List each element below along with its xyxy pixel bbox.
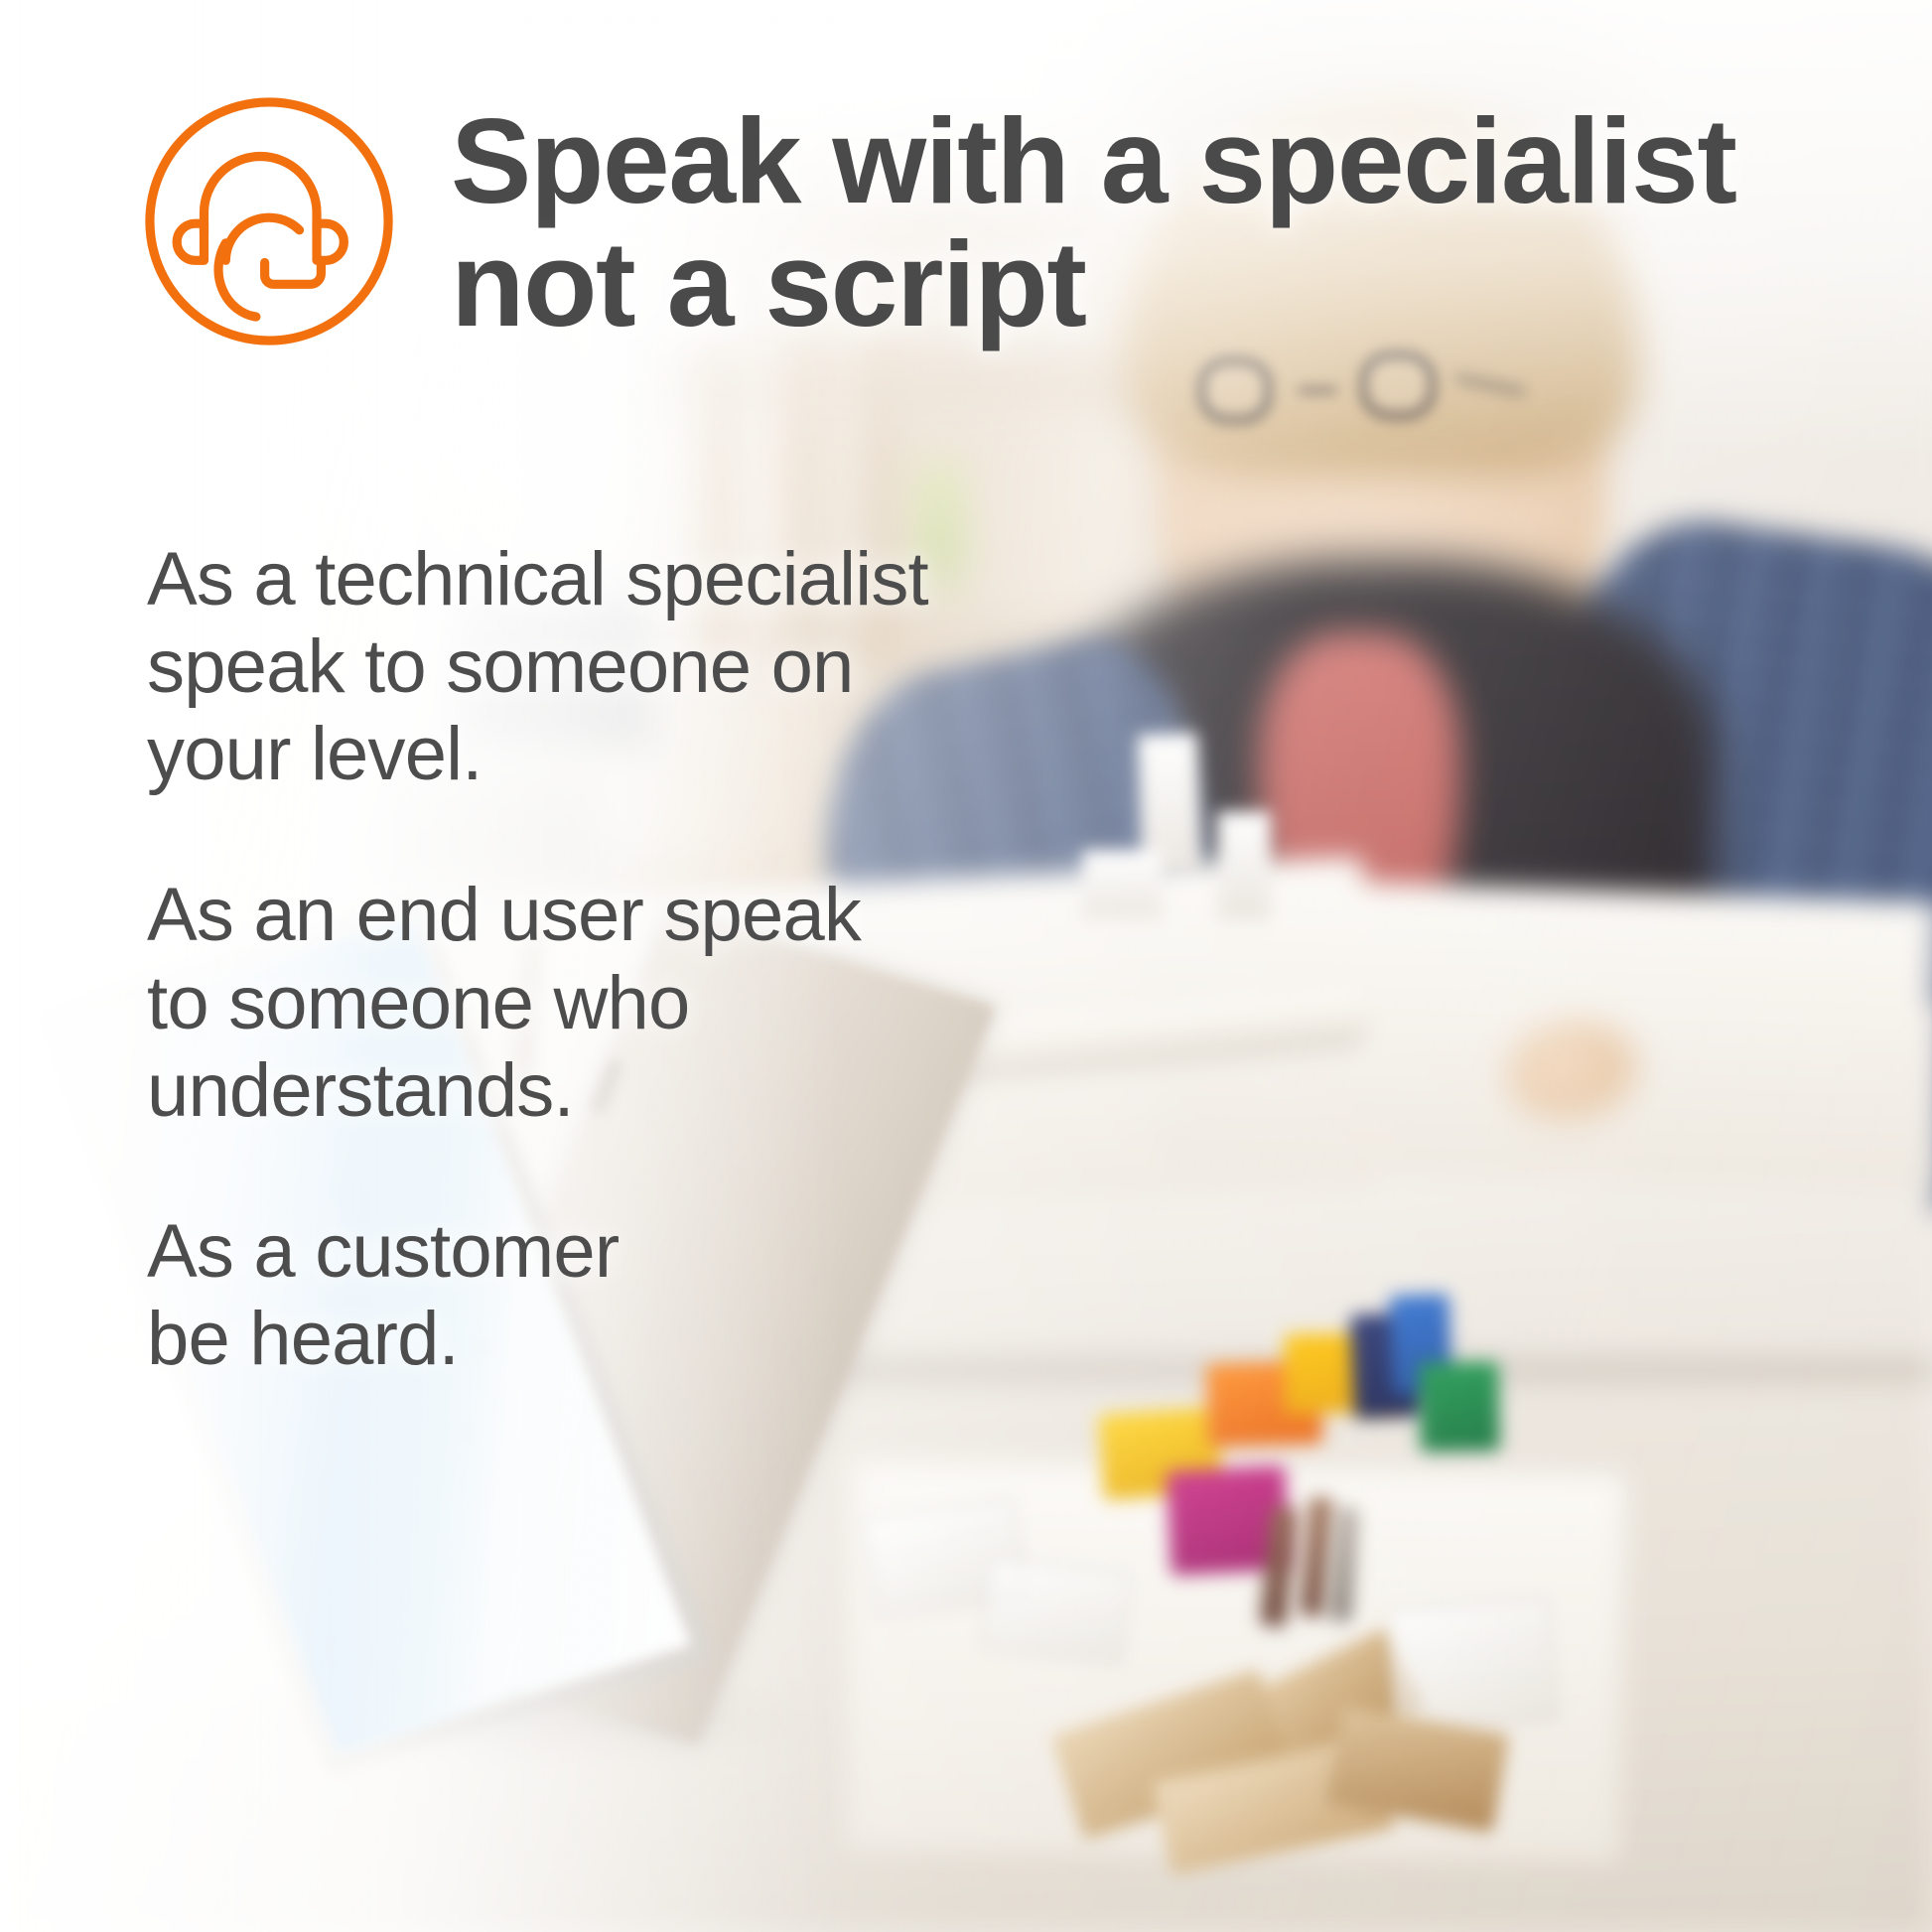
page-title: Speak with a specialist not a script <box>451 81 1736 346</box>
body-copy: As a technical specialist speak to someo… <box>147 536 1040 1383</box>
headset-support-icon <box>139 91 399 351</box>
promotional-poster: Speak with a specialist not a script As … <box>0 0 1932 1932</box>
body-paragraph-3: As a customer be heard. <box>147 1208 1040 1383</box>
poster-content: Speak with a specialist not a script As … <box>0 0 1932 1932</box>
body-paragraph-2: As an end user speak to someone who unde… <box>147 872 1040 1134</box>
poster-header: Speak with a specialist not a script <box>139 81 1736 351</box>
body-paragraph-1: As a technical specialist speak to someo… <box>147 536 1040 798</box>
